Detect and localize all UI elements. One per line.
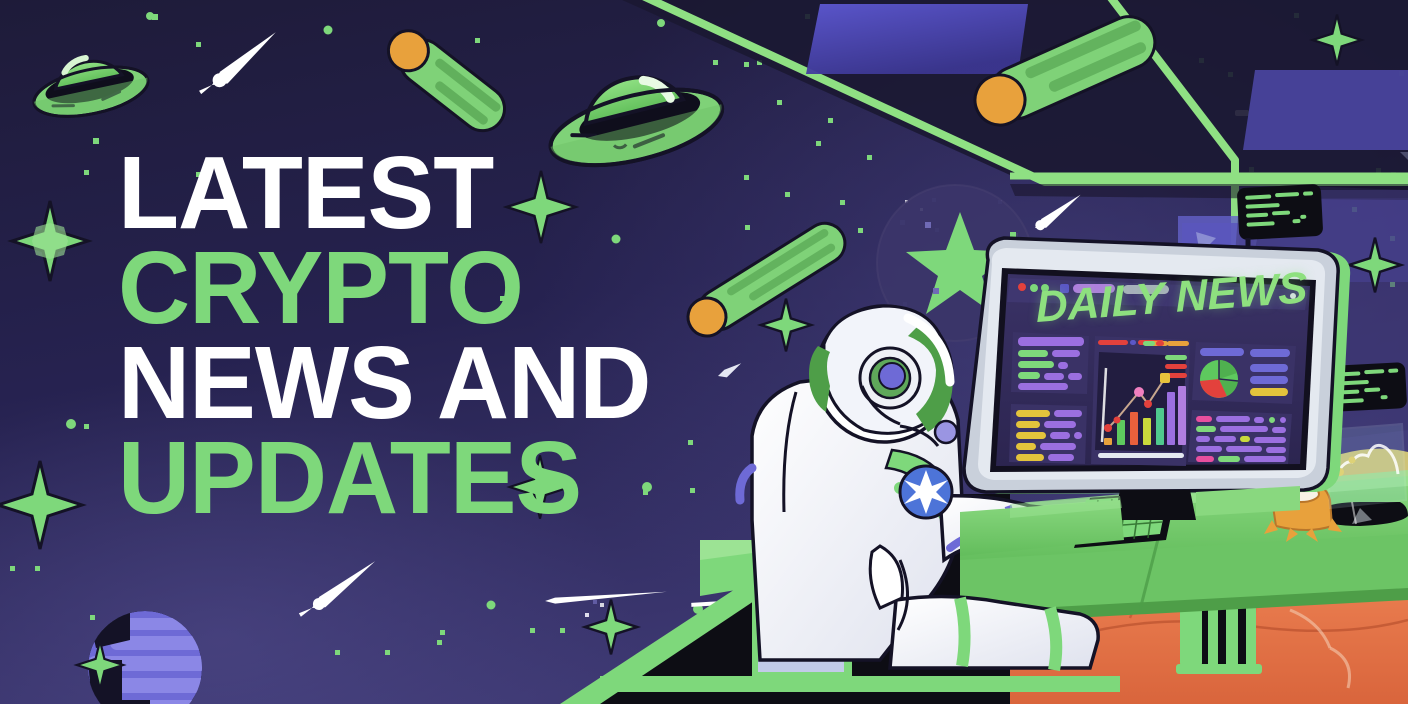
panel-right-pie (1192, 342, 1296, 404)
panel-left-bottom (1009, 404, 1087, 464)
panel-right-table (1188, 410, 1292, 464)
headline-line-1: LATEST (118, 144, 650, 243)
monitor (964, 238, 1350, 520)
headline-line-2: CRYPTO (118, 239, 650, 338)
page-title: LATEST CRYPTO NEWS AND UPDATES (118, 144, 667, 524)
panel-left-top (1011, 332, 1089, 394)
crypto-news-banner: LATEST CRYPTO NEWS AND UPDATES DAILY NEW… (0, 0, 1408, 704)
headline-line-4: UPDATES (118, 429, 650, 528)
headline-line-3: NEWS AND (118, 334, 650, 433)
scene-object-astronaut: astronaut in white suit seated at consol… (0, 0, 1, 1)
panel-center-chart (1091, 336, 1190, 466)
